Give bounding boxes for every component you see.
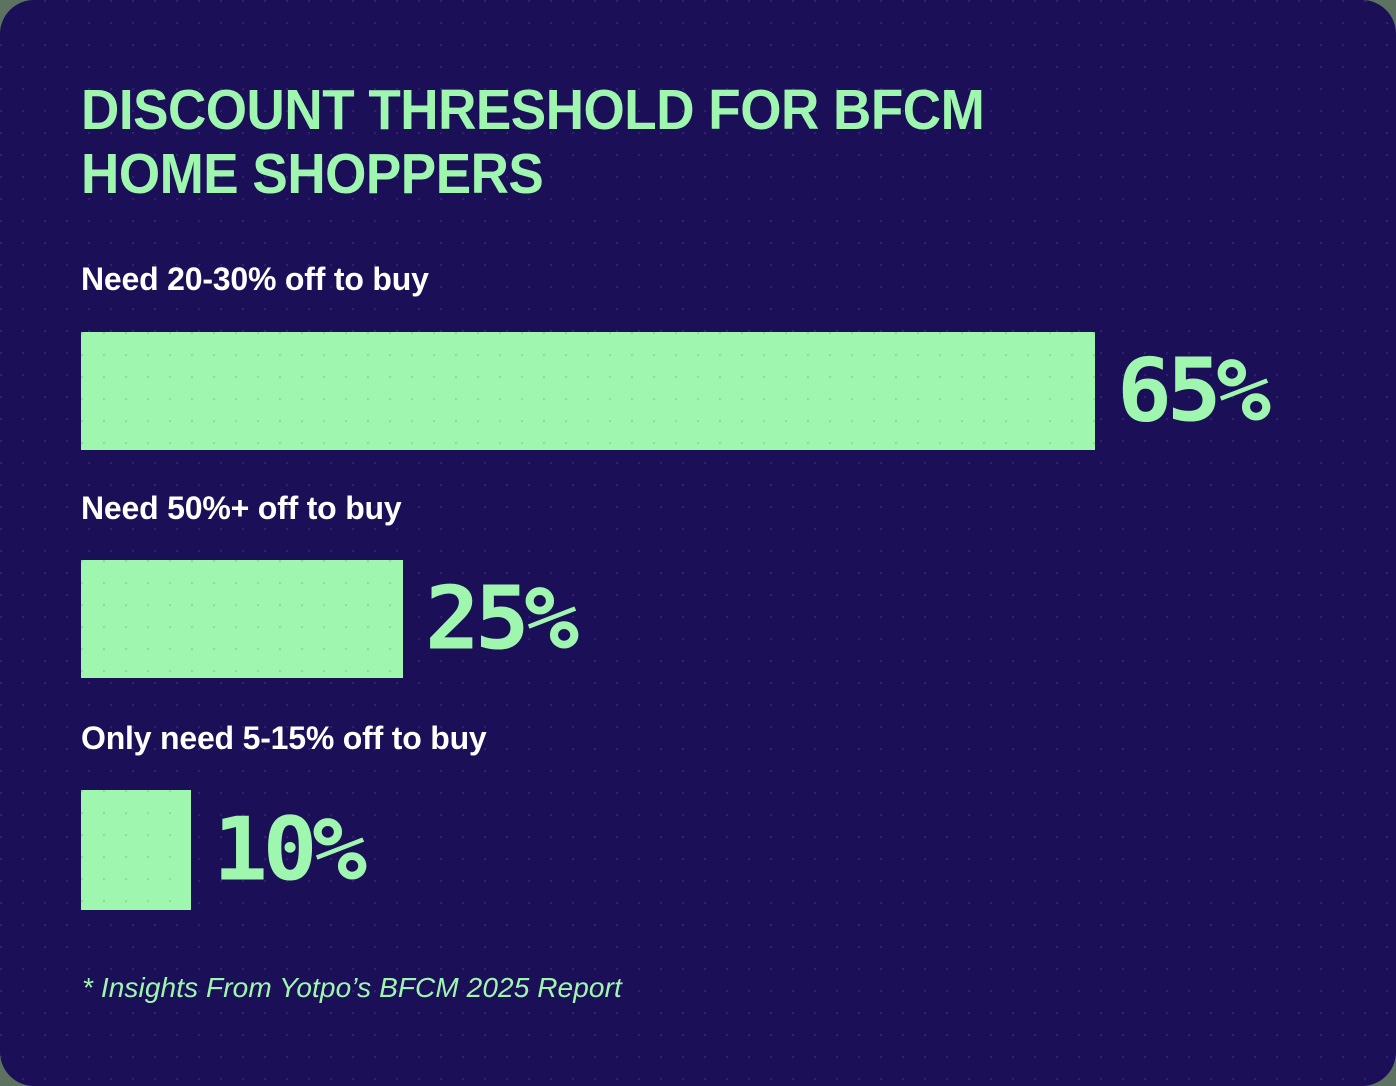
bar-group-3: 10%	[81, 790, 353, 910]
bar-group-2: 25%	[81, 560, 565, 678]
bar-value-1: 65%	[1117, 347, 1266, 435]
bar-fill-1	[81, 332, 1095, 450]
source-footnote: * Insights From Yotpo’s BFCM 2025 Report	[82, 972, 622, 1004]
bar-fill-2	[81, 560, 403, 678]
page-title: DISCOUNT THRESHOLD FOR BFCM HOME SHOPPER…	[81, 78, 1123, 206]
bar-fill-3	[81, 790, 191, 910]
bar-label-3: Only need 5-15% off to buy	[81, 720, 487, 757]
bar-value-2: 25%	[425, 575, 574, 663]
bar-value-3: 10%	[213, 806, 362, 894]
bar-label-1: Need 20-30% off to buy	[81, 261, 429, 298]
infographic-card: DISCOUNT THRESHOLD FOR BFCM HOME SHOPPER…	[0, 0, 1396, 1086]
bar-group-1: 65%	[81, 332, 1257, 450]
bar-label-2: Need 50%+ off to buy	[81, 490, 402, 527]
